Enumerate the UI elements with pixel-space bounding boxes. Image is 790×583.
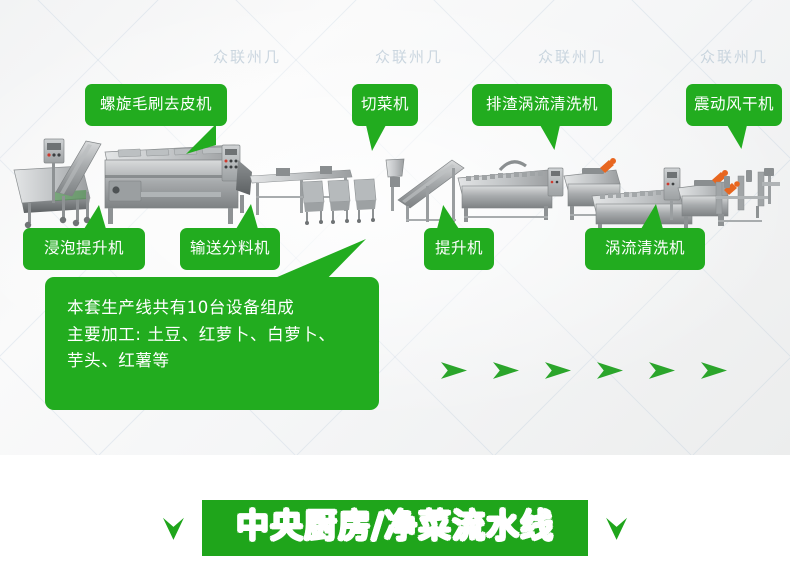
arrow-icon-5 (701, 361, 727, 380)
arrow-icon-1 (493, 361, 519, 380)
chevron-down-icon-right (606, 516, 627, 540)
arrow-icon-3 (597, 361, 623, 380)
chevron-down-icon-left (163, 516, 184, 540)
arrow-icon-4 (649, 361, 675, 380)
banner-title: 中央厨房/净菜流水线 (236, 509, 554, 544)
arrow-icon-2 (545, 361, 571, 380)
bottom-banner: 中央厨房/净菜流水线 (202, 500, 588, 556)
arrow-icon-0 (441, 361, 467, 380)
page-root: 众联州几众联州几众联州几众联州几 (0, 0, 790, 583)
bottom-banner-wrap: 中央厨房/净菜流水线 (0, 500, 790, 556)
arrow-sequence (0, 0, 790, 455)
